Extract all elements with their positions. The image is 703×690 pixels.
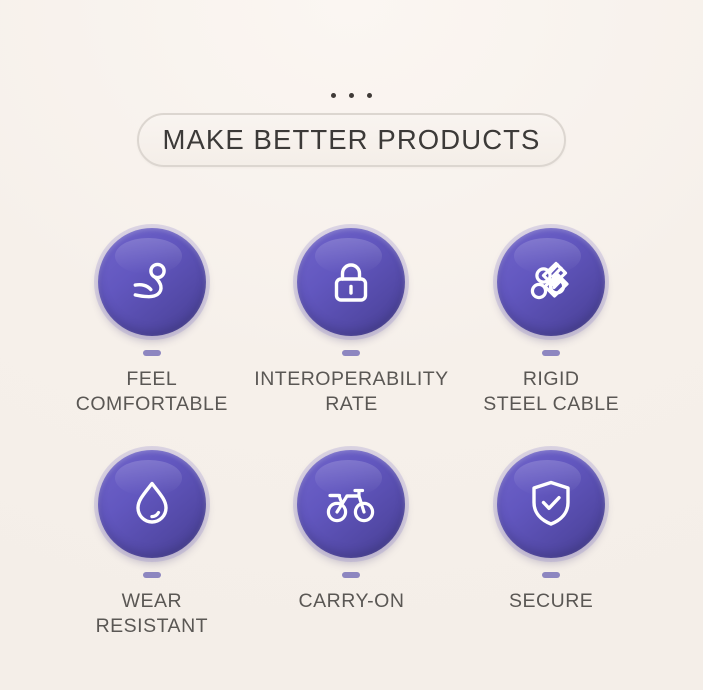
feature-item-wear-resistant[interactable]: WEAR RESISTANT <box>52 450 252 672</box>
feature-item-interoperability-rate[interactable]: INTEROPERABILITY RATE <box>252 228 452 450</box>
feature-item-carry-on[interactable]: CARRY-ON <box>252 450 452 672</box>
dot-icon <box>349 93 354 98</box>
divider-dash <box>342 350 360 356</box>
bicycle-icon <box>322 478 380 530</box>
divider-dash <box>342 572 360 578</box>
feature-grid: FEEL COMFORTABLE INTEROPERABILITY RATE <box>52 228 651 672</box>
page-title-pill: MAKE BETTER PRODUCTS <box>137 113 566 167</box>
shield-check-icon <box>525 476 577 532</box>
feature-icon-badge <box>98 450 206 558</box>
dot-icon <box>331 93 336 98</box>
dot-icon <box>367 93 372 98</box>
padlock-icon <box>324 255 378 309</box>
feature-icon-badge <box>497 450 605 558</box>
water-droplet-icon <box>126 476 178 532</box>
header: MAKE BETTER PRODUCTS <box>0 88 703 167</box>
feature-icon-badge <box>497 228 605 336</box>
divider-dash <box>542 572 560 578</box>
feature-label: WEAR RESISTANT <box>96 589 208 639</box>
feature-icon-badge <box>297 450 405 558</box>
feature-label: CARRY-ON <box>299 589 405 614</box>
feature-icon-badge <box>98 228 206 336</box>
feature-item-feel-comfortable[interactable]: FEEL COMFORTABLE <box>52 228 252 450</box>
divider-dash <box>143 572 161 578</box>
steel-cable-bundle-icon <box>523 254 579 310</box>
feature-label: FEEL COMFORTABLE <box>76 367 228 417</box>
divider-dash <box>143 350 161 356</box>
reclining-person-icon <box>124 254 180 310</box>
page-title: MAKE BETTER PRODUCTS <box>162 124 540 156</box>
feature-icon-badge <box>297 228 405 336</box>
feature-item-rigid-steel-cable[interactable]: RIGID STEEL CABLE <box>451 228 651 450</box>
feature-item-secure[interactable]: SECURE <box>451 450 651 672</box>
infographic-page: MAKE BETTER PRODUCTS FEEL COMFORTABLE <box>0 0 703 690</box>
three-dots-ornament <box>331 88 372 102</box>
feature-label: INTEROPERABILITY RATE <box>254 367 448 417</box>
feature-label: RIGID STEEL CABLE <box>483 367 619 417</box>
feature-label: SECURE <box>509 589 593 614</box>
divider-dash <box>542 350 560 356</box>
